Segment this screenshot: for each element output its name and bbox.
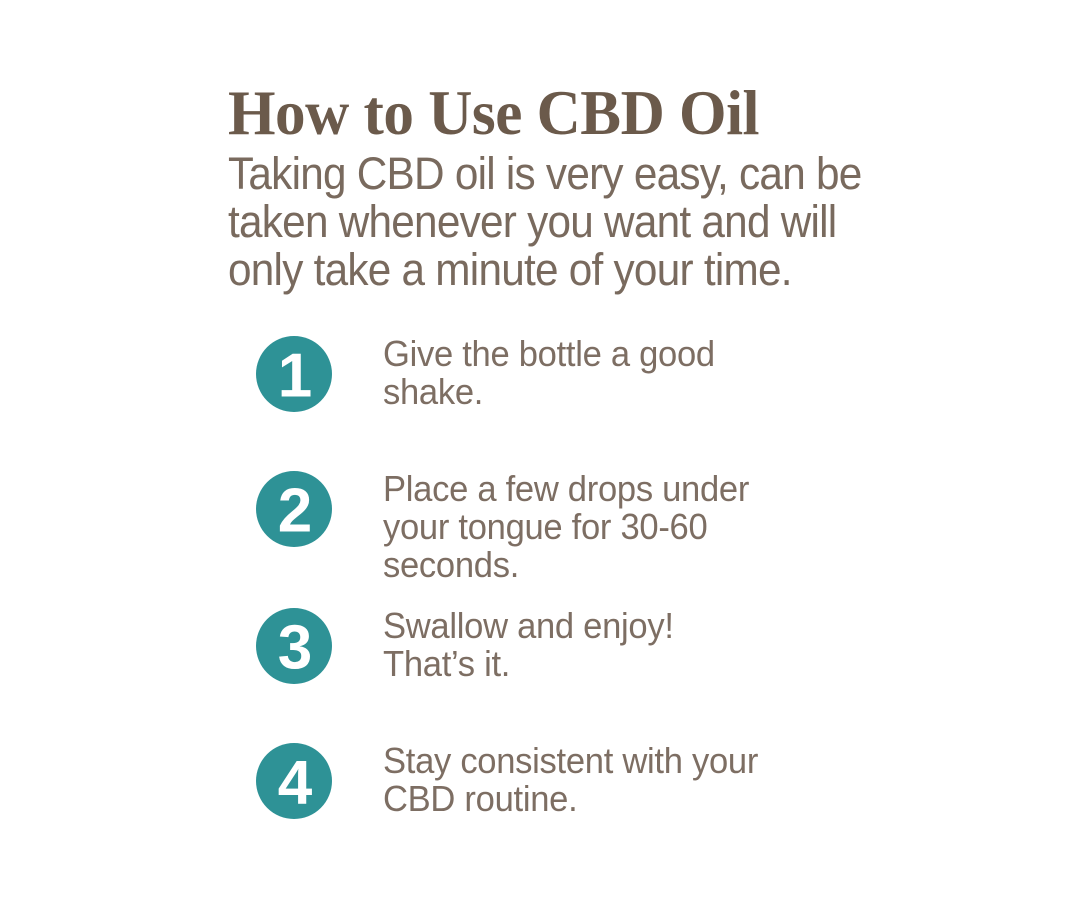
page-subtitle: Taking CBD oil is very easy, can be take… (228, 150, 886, 294)
step-line: Place a few drops under (383, 470, 921, 508)
step-line: Give the bottle a good (383, 335, 921, 373)
badge-number-label: 4 (278, 749, 313, 818)
step-description-2: Place a few drops under your tongue for … (383, 470, 921, 584)
step-line: Swallow and enjoy! (383, 607, 921, 645)
step-line: your tongue for 30-60 (383, 508, 921, 546)
cbd-usage-infographic: How to Use CBD Oil Taking CBD oil is ver… (0, 0, 1080, 919)
step-number-badge-2: 2 (255, 470, 333, 548)
badge-number-label: 1 (278, 342, 312, 411)
page-title: How to Use CBD Oil (228, 82, 888, 144)
step-line: shake. (383, 373, 921, 411)
step-line: That’s it. (383, 645, 921, 683)
header-block: How to Use CBD Oil Taking CBD oil is ver… (228, 82, 908, 294)
step-description-3: Swallow and enjoy! That’s it. (383, 607, 921, 683)
subtitle-line: Taking CBD oil is very easy, can be (228, 148, 862, 199)
step-line: Stay consistent with your (383, 742, 921, 780)
step-line: CBD routine. (383, 780, 921, 818)
step-number-badge-3: 3 (255, 607, 333, 685)
step-description-1: Give the bottle a good shake. (383, 335, 921, 411)
step-description-4: Stay consistent with your CBD routine. (383, 742, 921, 818)
badge-number-label: 2 (278, 477, 312, 546)
subtitle-line: taken whenever you want and will (228, 196, 836, 247)
subtitle-line: only take a minute of your time. (228, 244, 792, 295)
badge-number-label: 3 (278, 614, 312, 683)
step-number-badge-1: 1 (255, 335, 333, 413)
step-line: seconds. (383, 546, 921, 584)
step-number-badge-4: 4 (255, 742, 333, 820)
